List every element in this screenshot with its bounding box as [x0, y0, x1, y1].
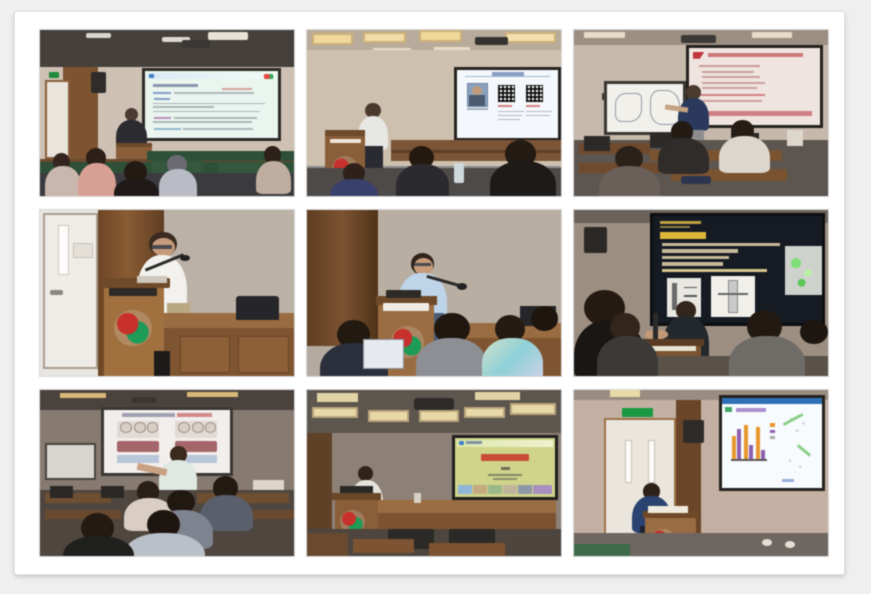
photo-canvas: [40, 390, 294, 556]
photo-item[interactable]: [39, 29, 295, 197]
photo-canvas: [574, 210, 828, 376]
photo-item[interactable]: [39, 209, 295, 377]
photo-canvas: [574, 30, 828, 196]
photo-item[interactable]: [573, 29, 829, 197]
photo-grid: [39, 29, 829, 557]
photo-canvas: [574, 390, 828, 556]
photo-item[interactable]: [306, 389, 562, 557]
photo-item[interactable]: [306, 209, 562, 377]
photo-canvas: [40, 210, 294, 376]
photo-canvas: [307, 30, 561, 196]
photo-canvas: [307, 210, 561, 376]
photo-item[interactable]: [39, 389, 295, 557]
photo-item[interactable]: [573, 209, 829, 377]
photo-item[interactable]: [306, 29, 562, 197]
photo-item[interactable]: [573, 389, 829, 557]
photo-sheet: [14, 11, 845, 575]
photo-canvas: [40, 30, 294, 196]
photo-canvas: [307, 390, 561, 556]
